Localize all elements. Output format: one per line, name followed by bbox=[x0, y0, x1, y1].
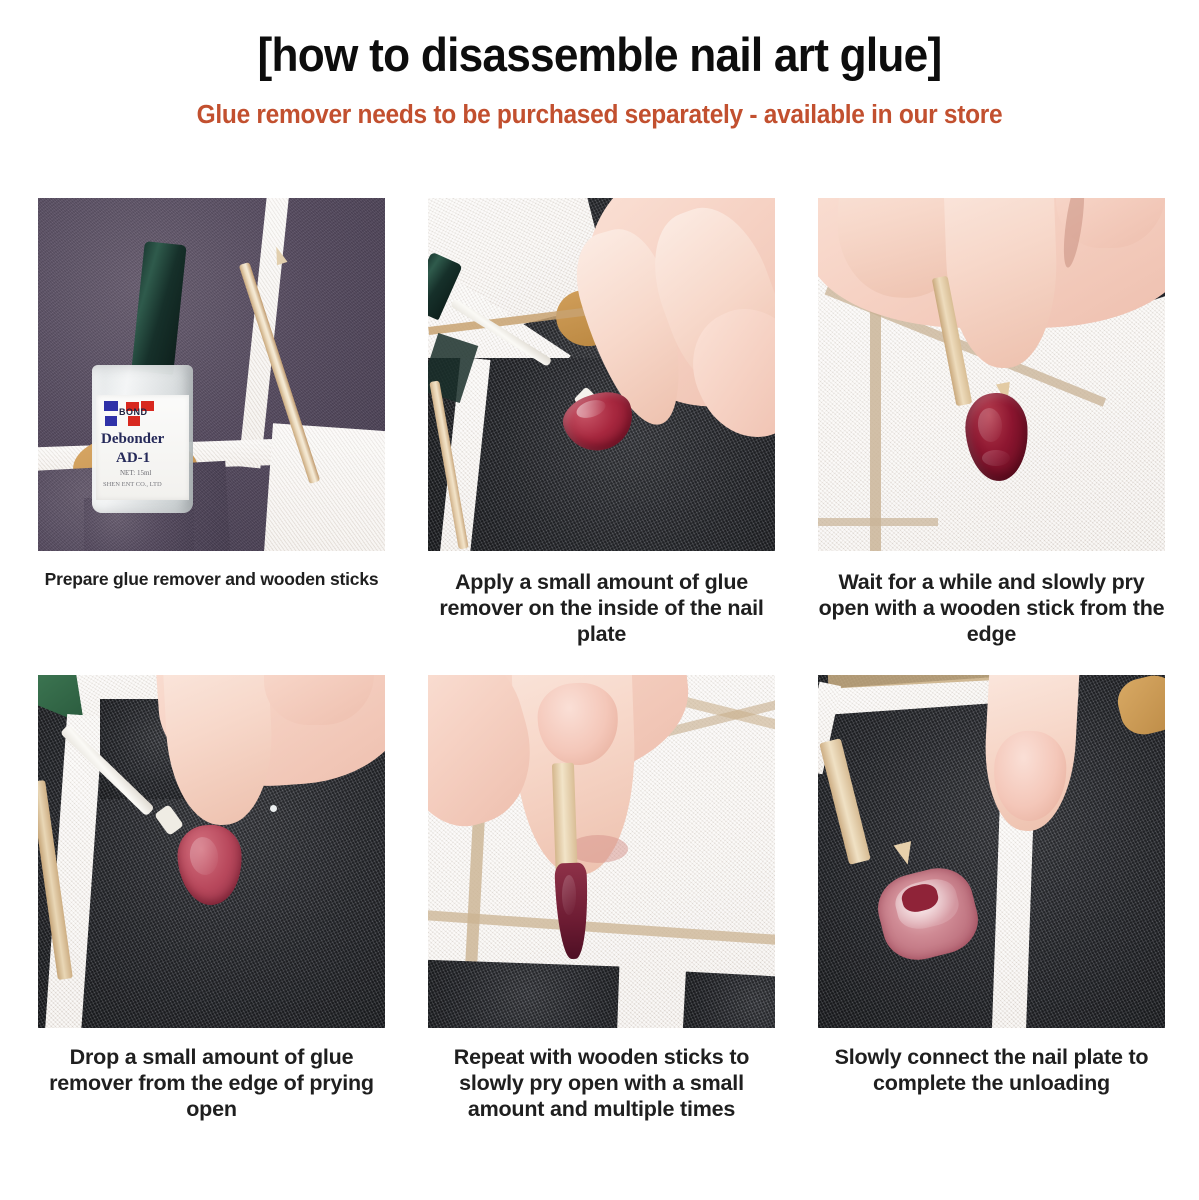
step-caption-2: Apply a small amount of glue remover on … bbox=[428, 551, 775, 648]
step-caption-1: Prepare glue remover and wooden sticks bbox=[38, 551, 385, 590]
brand-text: BOND bbox=[119, 407, 148, 417]
step-caption-6: Slowly connect the nail plate to complet… bbox=[818, 1028, 1165, 1096]
label-code-text: AD-1 bbox=[116, 450, 150, 467]
step-caption-3: Wait for a while and slowly pry open wit… bbox=[818, 551, 1165, 648]
page-subtitle: Glue remover needs to be purchased separ… bbox=[24, 79, 1175, 130]
step-caption-5: Repeat with wooden sticks to slowly pry … bbox=[428, 1028, 775, 1123]
dark-leather-bottom-right bbox=[682, 972, 775, 1028]
photo-prying-with-wooden-stick bbox=[818, 198, 1165, 551]
photo-removed-nail-plate bbox=[818, 675, 1165, 1028]
step-card-1: BOND Debonder AD-1 NET: 15ml SHEN ENT CO… bbox=[38, 198, 385, 648]
towel-stripe-vertical bbox=[870, 283, 881, 551]
photo-glue-remover-and-sticks: BOND Debonder AD-1 NET: 15ml SHEN ENT CO… bbox=[38, 198, 385, 551]
step-caption-4: Drop a small amount of glue remover from… bbox=[38, 1028, 385, 1123]
label-net-text: NET: 15ml bbox=[120, 469, 151, 477]
nail-gloss-secondary bbox=[982, 450, 1010, 466]
photo-repeat-prying bbox=[428, 675, 775, 1028]
dust-speck bbox=[270, 805, 277, 812]
step-card-3: Wait for a while and slowly pry open wit… bbox=[818, 198, 1165, 648]
steps-grid-row-2: Drop a small amount of glue remover from… bbox=[38, 675, 1166, 1123]
step-card-6: Slowly connect the nail plate to complet… bbox=[818, 675, 1165, 1123]
label-company-text: SHEN ENT CO., LTD bbox=[103, 481, 162, 488]
photo-dropping-remover-at-edge bbox=[38, 675, 385, 1028]
photo-applying-glue-remover bbox=[428, 198, 775, 551]
glue-bottle-body: BOND Debonder AD-1 NET: 15ml SHEN ENT CO… bbox=[92, 365, 193, 513]
towel-stripe-bottom bbox=[818, 518, 938, 526]
glue-bottle-label: BOND Debonder AD-1 NET: 15ml SHEN ENT CO… bbox=[96, 395, 189, 500]
page-title: [how to disassemble nail art glue] bbox=[36, 30, 1163, 79]
steps-grid-row-1: BOND Debonder AD-1 NET: 15ml SHEN ENT CO… bbox=[38, 198, 1166, 648]
dark-leather-bottom-left bbox=[428, 960, 619, 1028]
page-header: [how to disassemble nail art glue] Glue … bbox=[0, 0, 1199, 130]
step-card-2: Apply a small amount of glue remover on … bbox=[428, 198, 775, 648]
step-card-5: Repeat with wooden sticks to slowly pry … bbox=[428, 675, 775, 1123]
white-strip-lower bbox=[263, 423, 385, 551]
step-card-4: Drop a small amount of glue remover from… bbox=[38, 675, 385, 1123]
label-name-text: Debonder bbox=[101, 431, 164, 448]
nail-tip-gloss bbox=[562, 875, 576, 915]
